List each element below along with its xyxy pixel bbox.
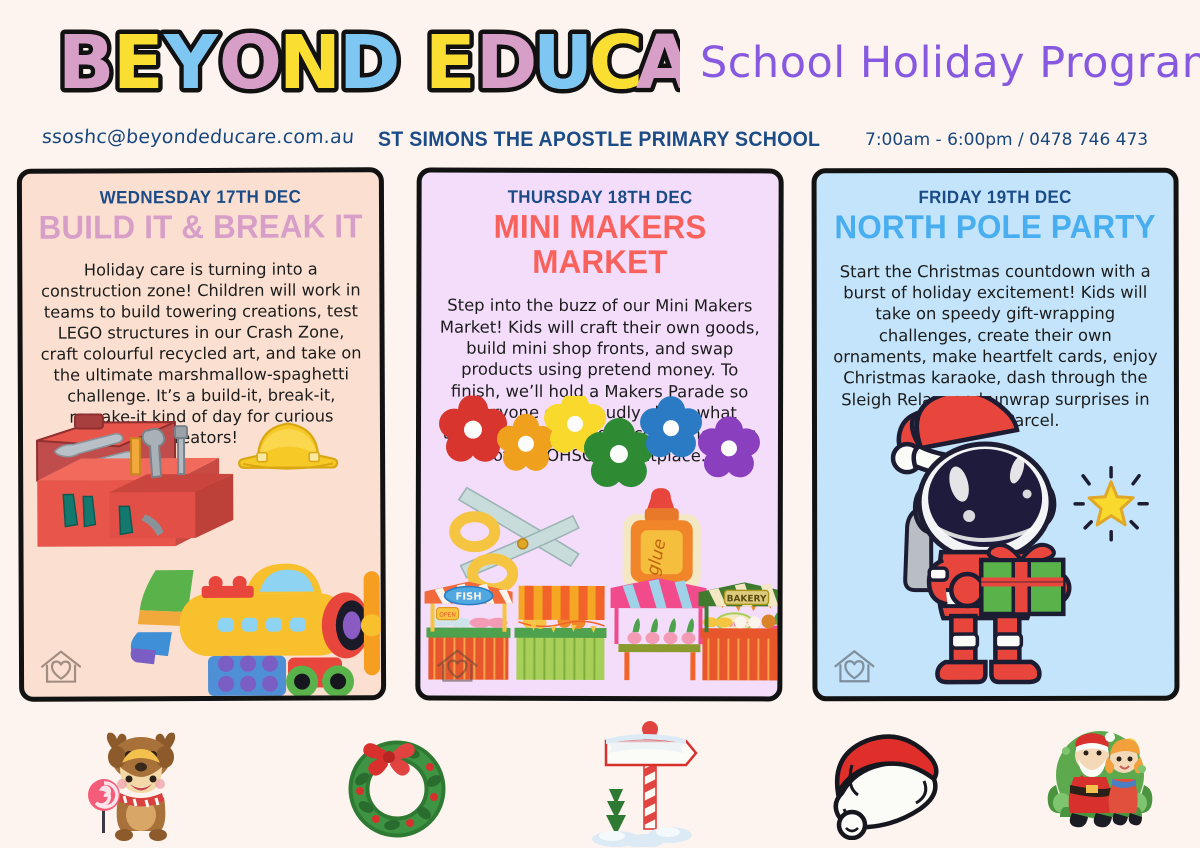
reindeer-child-icon (84, 727, 202, 845)
program-card-thursday[interactable]: THURSDAY 18TH DEC MINI MAKERS MARKET Ste… (415, 168, 783, 702)
svg-text:E: E (425, 22, 476, 106)
christmas-wreath-icon (342, 731, 452, 841)
stall-sign-bakery: BAKERY (727, 594, 767, 604)
school-name: ST SIMONS THE APOSTLE PRIMARY SCHOOL (378, 128, 820, 152)
north-pole-signpost-icon (592, 717, 712, 847)
svg-text:N: N (279, 22, 341, 106)
star-icon (1075, 468, 1147, 540)
svg-text:U: U (533, 22, 593, 106)
house-heart-icon (831, 646, 877, 686)
program-card-friday[interactable]: FRIDAY 19TH DEC NORTH POLE PARTY Start t… (812, 168, 1180, 702)
glue-label: glue (643, 537, 670, 577)
hours-and-phone: 7:00am - 6:00pm / 0478 746 473 (865, 130, 1148, 150)
card-date: THURSDAY 18TH DEC (432, 187, 768, 209)
svg-text:O: O (219, 22, 282, 106)
glue-bottle-icon: glue (623, 488, 701, 590)
svg-text:Y: Y (163, 22, 219, 106)
svg-text:OPEN: OPEN (439, 612, 456, 619)
toy-plane-icon (130, 563, 383, 697)
santa-with-child-icon (1042, 721, 1160, 839)
house-heart-icon (434, 646, 480, 686)
house-heart-icon (38, 647, 84, 687)
card-description: Holiday care is turning into a construct… (36, 258, 366, 449)
program-cards: WEDNESDAY 17TH DEC BUILD IT & BREAK IT H… (0, 168, 1200, 713)
poster-header: B E Y O N D E D U C A B E Y O N (0, 0, 1200, 160)
svg-text:E: E (113, 22, 164, 106)
card-title: BUILD IT & BREAK IT (31, 209, 370, 245)
svg-text:D: D (339, 22, 400, 106)
santa-hat-icon (824, 725, 942, 840)
beyond-educare-logo: B E Y O N D E D U C A B E Y O N (30, 22, 680, 107)
santa-astronaut-icon (893, 396, 1148, 683)
svg-text:Flower: Flower (721, 619, 748, 628)
card-date: FRIDAY 19TH DEC (827, 187, 1163, 209)
svg-text:B: B (58, 22, 114, 106)
bottom-decorations (0, 713, 1200, 848)
gift-box-icon (981, 545, 1063, 614)
card-title: MINI MAKERS MARKET (430, 210, 769, 280)
card-date: WEDNESDAY 17TH DEC (33, 186, 369, 208)
page-title: School Holiday Program (700, 38, 1200, 88)
program-card-wednesday[interactable]: WEDNESDAY 17TH DEC BUILD IT & BREAK IT H… (17, 167, 386, 702)
stall-sign-fish: FISH (455, 592, 481, 603)
card-title: NORTH POLE PARTY (826, 210, 1165, 245)
contact-email[interactable]: ssoshc@beyondeducare.com.au (41, 126, 355, 148)
svg-text:A: A (636, 22, 680, 106)
card-description: Start the Christmas countdown with a bur… (831, 260, 1160, 431)
card-description: Step into the buzz of our Mini Makers Ma… (435, 295, 764, 466)
svg-text:D: D (476, 22, 537, 106)
poster: B E Y O N D E D U C A B E Y O N (0, 0, 1200, 848)
scissors-icon (455, 488, 579, 589)
